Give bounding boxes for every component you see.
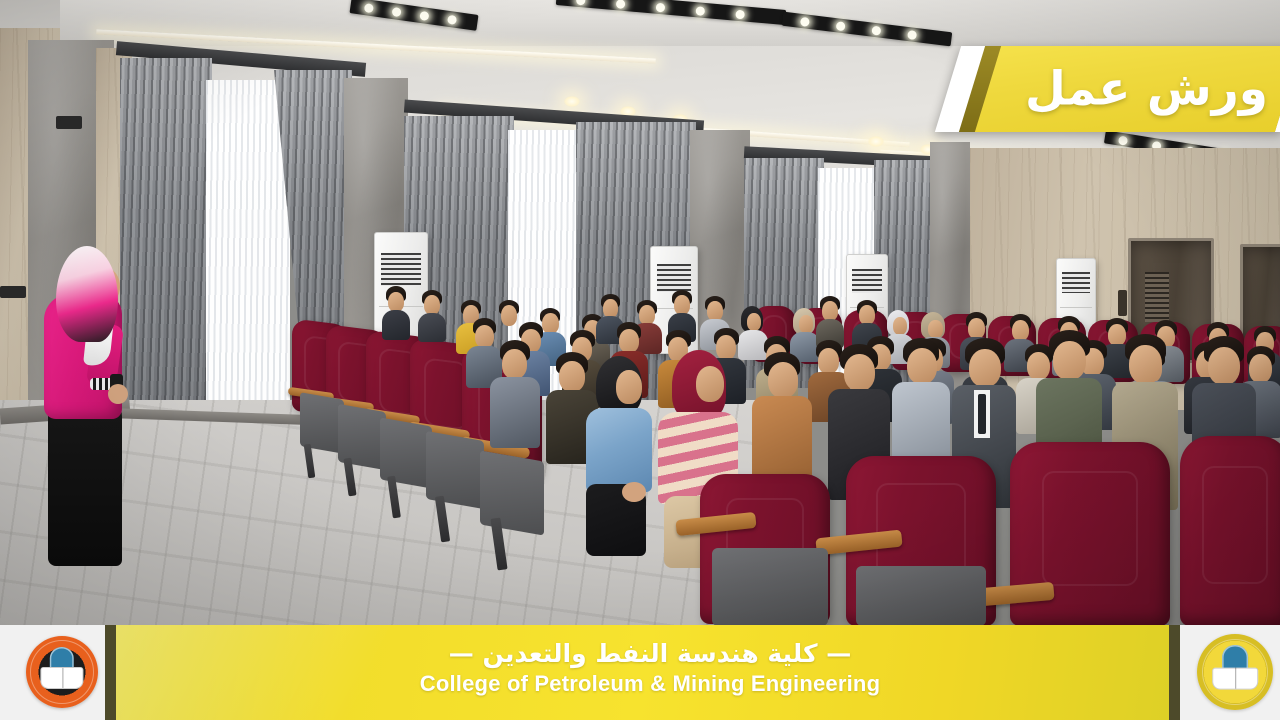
footer-college-name: — كلية هندسة النفط والتعدين — College of… (360, 639, 940, 697)
presenter-speaker (34, 246, 144, 566)
seal-arch-icon (1222, 645, 1248, 669)
college-seal (1197, 634, 1273, 710)
seat-base (712, 548, 828, 625)
seat-foreground-4 (1180, 436, 1280, 625)
seat-base (856, 566, 986, 625)
footer-name-arabic: — كلية هندسة النفط والتعدين — (360, 639, 940, 669)
university-seal (26, 636, 98, 708)
ceiling-downlight-1 (564, 96, 580, 107)
seal-arch-icon (50, 647, 74, 670)
title-banner: ورش عمل (948, 46, 1280, 132)
curtain-sheer-1 (206, 80, 290, 430)
poster-root: ورش عمل (0, 0, 1280, 720)
presenter-hijab (56, 246, 118, 342)
audience-member (490, 340, 540, 448)
presenter-skirt (48, 396, 122, 566)
audience-member (382, 286, 410, 340)
wall-speaker-left (56, 116, 82, 129)
presenter-hand (108, 384, 128, 404)
seal-book-icon (40, 667, 83, 689)
audience-member (418, 290, 446, 342)
banner-title-text: ورش عمل (1025, 62, 1268, 117)
footer-bar: — كلية هندسة النفط والتعدين — College of… (0, 625, 1280, 720)
door-vent (1145, 272, 1169, 322)
footer-name-english: College of Petroleum & Mining Engineerin… (360, 671, 940, 697)
wall-speaker-left-2 (0, 286, 26, 298)
audience-member-front-1 (586, 356, 652, 556)
door-handle (1118, 290, 1127, 316)
seat-base (480, 450, 544, 535)
footer-edge-left (105, 625, 116, 720)
footer-edge-right (1169, 625, 1180, 720)
ceiling-downlight-4 (868, 136, 884, 147)
seal-book-icon (1212, 667, 1258, 690)
